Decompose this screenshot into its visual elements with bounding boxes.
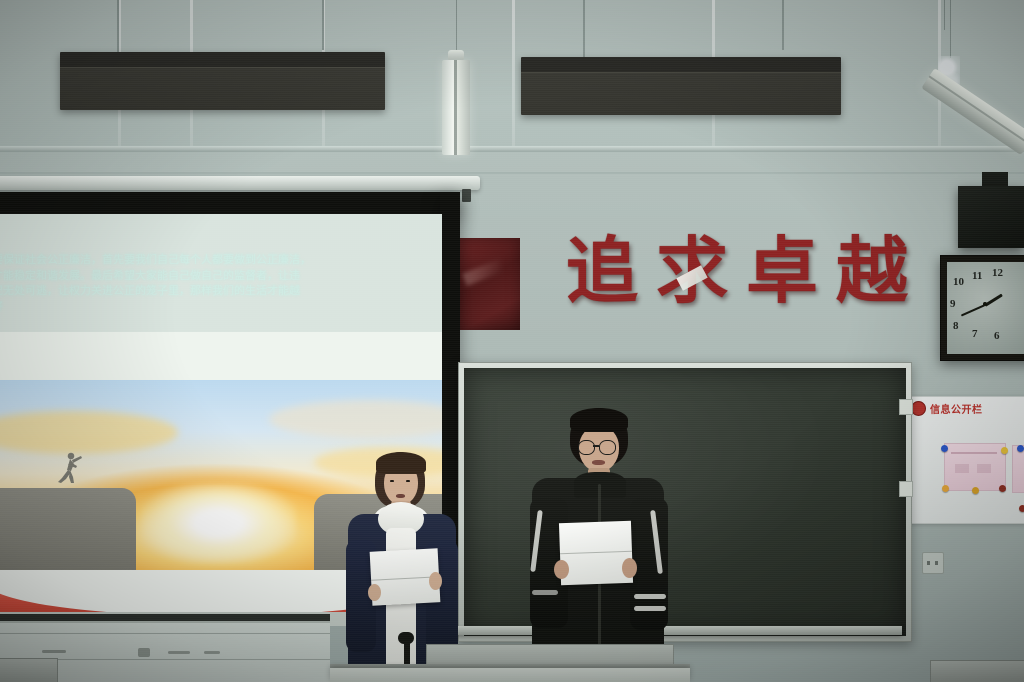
light-rod: [583, 0, 585, 57]
glasses-bridge: [593, 445, 599, 447]
plaque-glint: [462, 259, 504, 286]
clock-center-pin: [983, 302, 987, 306]
clock-face: 10 11 12 9 8 7 6: [947, 262, 1024, 354]
slide-text: 要保证社会公正廉洁，首先要我们自己每个人都要做到公正廉洁， 才能稳定和谐发展。最…: [0, 248, 442, 318]
red-wall-plaque: [455, 238, 520, 330]
blackboard-clip: [899, 481, 913, 497]
hand-left: [554, 560, 569, 579]
clock-numeral: 9: [950, 298, 956, 310]
panel-scuff: [42, 650, 66, 653]
side-desk-right: [930, 660, 1024, 682]
clock-hour-hand: [984, 294, 1002, 307]
outlet-slot: [927, 561, 930, 565]
wall-clock: 10 11 12 9 8 7 6: [940, 255, 1024, 361]
pin-magnet: [1019, 505, 1024, 512]
wall-speaker: [958, 186, 1024, 248]
sheet-line: [955, 464, 969, 473]
clock-numeral: 6: [994, 330, 1000, 342]
screen-roller-casing: [0, 176, 480, 190]
cuff-stripe: [532, 590, 558, 595]
hanging-light-panel-right: [521, 57, 841, 115]
bulletin-sheet-right: [1012, 445, 1024, 493]
glasses-lens-right: [599, 440, 616, 455]
light-wire-right: [944, 0, 945, 30]
microphone-head: [398, 632, 414, 644]
pin-magnet: [941, 445, 948, 452]
screen-bracket: [462, 189, 471, 202]
classroom-photo: 10 11 12 9 8 7 6 信息公开栏: [0, 0, 1024, 682]
cloud: [269, 400, 442, 439]
student-right: [510, 404, 680, 682]
clock-minute-hand: [961, 304, 986, 316]
decoration-wire: [950, 0, 951, 58]
power-outlet: [922, 552, 944, 574]
pin-magnet: [972, 487, 979, 494]
blackboard-clip: [899, 399, 913, 415]
ceiling-joint: [512, 0, 515, 150]
glasses-lens-left: [578, 440, 595, 455]
light-rod: [322, 0, 324, 50]
hanging-light-panel-left: [60, 52, 385, 110]
side-desk-left: [0, 658, 58, 682]
panel-scuff: [138, 648, 150, 657]
sheet-line: [977, 464, 991, 473]
hand-right: [622, 558, 637, 578]
podium: [330, 668, 690, 682]
panel-scuff: [204, 651, 220, 654]
hand-left: [368, 584, 381, 601]
clock-numeral: 8: [953, 320, 959, 332]
sun-glow: [141, 482, 296, 564]
cliff-left: [0, 488, 136, 576]
bulletin-board: 信息公开栏: [905, 396, 1024, 524]
pin-magnet: [999, 485, 1006, 492]
slogan-char: 追: [566, 235, 638, 307]
lower-panel-top-edge: [0, 614, 330, 621]
ceiling-rail: [0, 146, 1024, 152]
slogan-char: 越: [836, 235, 908, 307]
wall-slogan: 追 求 卓 越: [566, 235, 908, 307]
eyeglasses: [578, 440, 622, 456]
pin-magnet: [1001, 447, 1008, 454]
slogan-char: 卓: [746, 235, 818, 307]
bulletin-header: 信息公开栏: [906, 397, 1024, 418]
clock-numeral: 11: [972, 270, 982, 282]
hand-right: [429, 572, 442, 590]
fluorescent-tube-left: [442, 60, 470, 155]
light-rod: [782, 0, 784, 50]
paper-fold: [560, 551, 632, 555]
mouth: [396, 494, 405, 498]
clock-numeral: 7: [972, 328, 978, 340]
cuff-stripe: [634, 606, 666, 611]
speech-paper: [559, 521, 633, 585]
runner-silhouette-icon: [54, 451, 84, 485]
bulletin-title: 信息公开栏: [930, 401, 983, 416]
projection-screen-frame: [0, 192, 460, 214]
clock-numeral: 10: [953, 276, 964, 288]
pin-magnet: [942, 485, 949, 492]
cloud: [0, 411, 178, 454]
mouth: [592, 460, 605, 465]
outlet-slot: [935, 561, 938, 565]
eye-right: [406, 480, 410, 482]
cuff-stripe: [634, 594, 666, 599]
hair-front: [376, 452, 426, 474]
emblem-icon: [911, 401, 926, 416]
panel-scuff: [168, 651, 190, 654]
pin-magnet: [1017, 445, 1024, 452]
bulletin-sheet: [944, 443, 1006, 491]
hair-fringe: [570, 408, 628, 432]
eye-left: [390, 480, 394, 482]
sheet-line: [951, 452, 997, 454]
panel-line: [0, 633, 330, 634]
light-wire: [456, 0, 457, 50]
clock-numeral: 12: [992, 267, 1003, 279]
wall-seam-lower: [0, 172, 1024, 174]
light-rod: [117, 0, 119, 56]
